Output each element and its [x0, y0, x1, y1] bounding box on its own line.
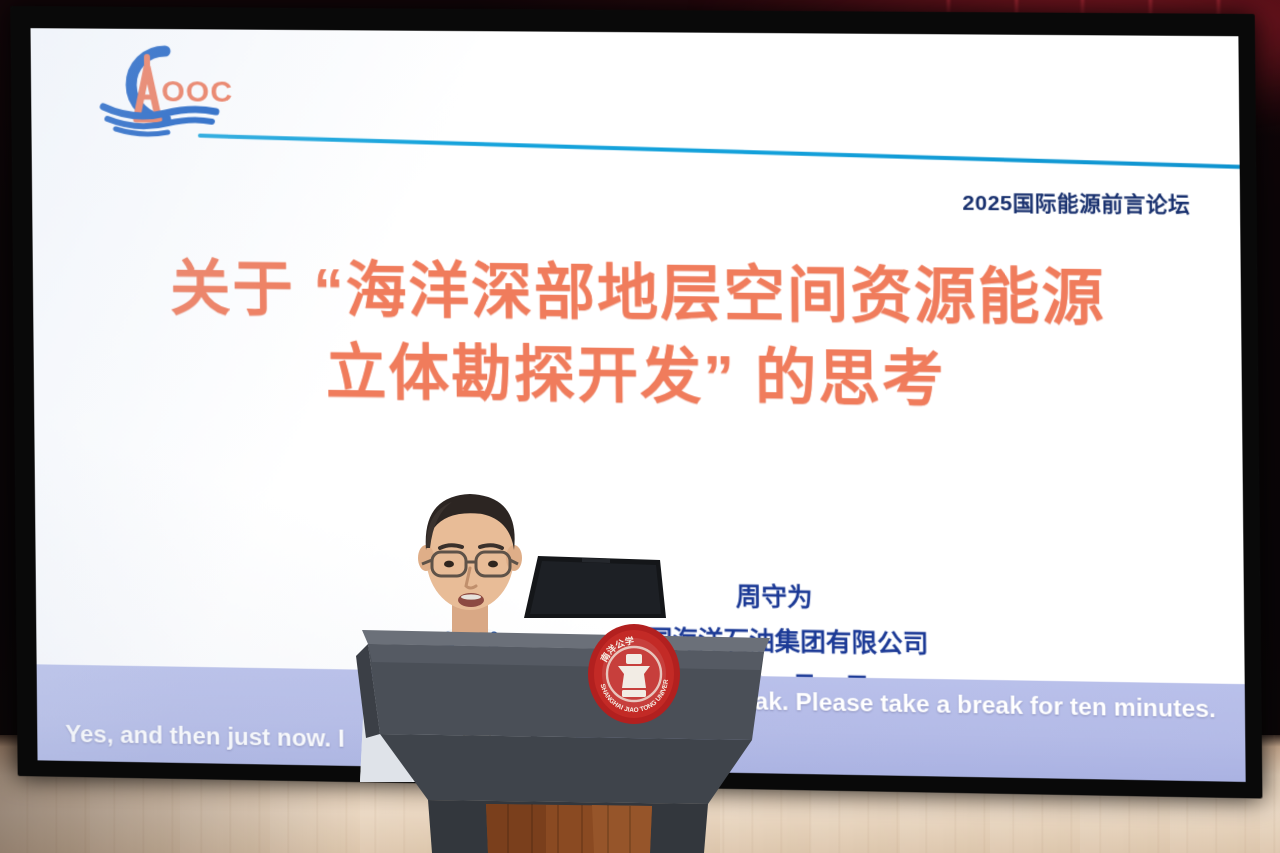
slide-title: 关于 “海洋深部地层空间资源能源 立体勘探开发” 的思考 — [33, 246, 1243, 425]
forum-tag: 2025国际能源前言论坛 — [962, 187, 1190, 220]
slide-title-line-2: 立体勘探开发” 的思考 — [33, 328, 1242, 425]
podium: 南洋公学 SHANGHAI JIAO TONG UNIVERSITY — [356, 608, 776, 853]
svg-text:OOC: OOC — [161, 75, 233, 109]
header-divider — [198, 134, 1242, 169]
cnooc-logo: OOC — [87, 41, 239, 138]
screenshot-root: OOC 2025国际能源前言论坛 关于 “海洋深部地层空间资源能源 立体勘探开发… — [0, 0, 1280, 853]
slide-title-line-1: 关于 “海洋深部地层空间资源能源 — [33, 246, 1242, 342]
